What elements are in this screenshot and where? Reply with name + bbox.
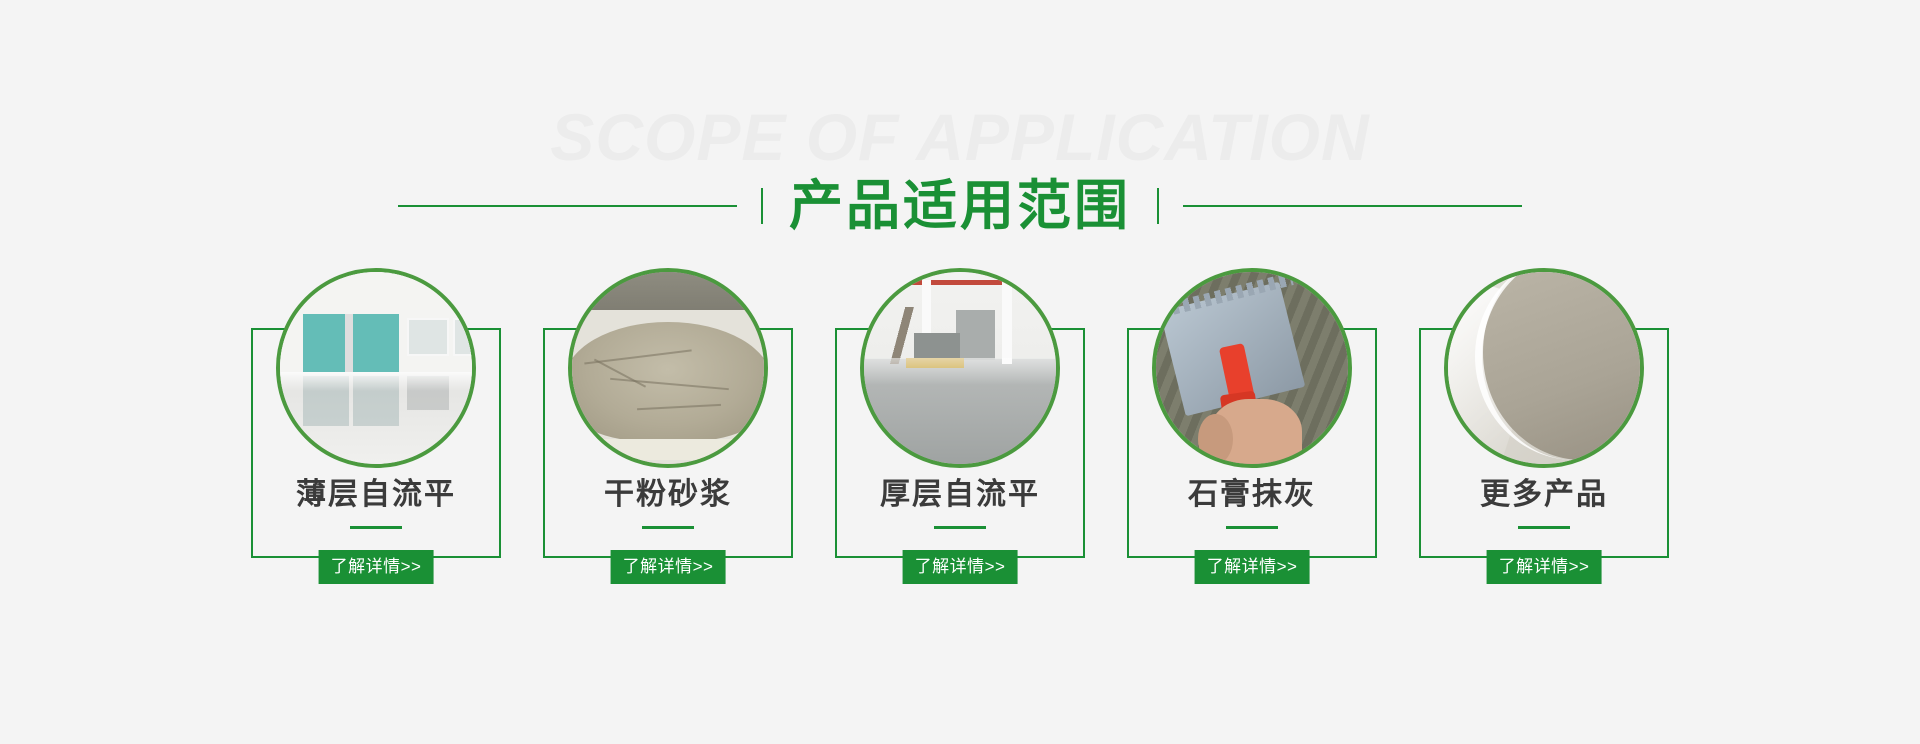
- thick-layer-self-levelling-warehouse-floor-photo: [864, 272, 1056, 464]
- page-title: 产品适用范围: [763, 179, 1157, 233]
- application-card[interactable]: 石膏抹灰 了解详情>>: [1127, 268, 1377, 558]
- dry-powder-mortar-photo: [572, 272, 764, 464]
- application-card-list: 薄层自流平 了解详情>> 干粉砂浆 了解详情>>: [0, 268, 1920, 668]
- card-image-circle: [860, 268, 1060, 468]
- card-label: 石膏抹灰: [1127, 480, 1377, 510]
- learn-more-button[interactable]: 了解详情>>: [1487, 550, 1602, 584]
- card-label-underline: [934, 526, 986, 529]
- learn-more-button[interactable]: 了解详情>>: [1195, 550, 1310, 584]
- rule-line-left: [398, 205, 737, 207]
- gypsum-plastering-trowel-photo: [1156, 272, 1348, 464]
- learn-more-button[interactable]: 了解详情>>: [903, 550, 1018, 584]
- card-image-circle: [568, 268, 768, 468]
- card-label: 厚层自流平: [835, 480, 1085, 510]
- card-image-circle: [1444, 268, 1644, 468]
- card-label-underline: [1518, 526, 1570, 529]
- card-label: 干粉砂浆: [543, 480, 793, 510]
- card-label-underline: [1226, 526, 1278, 529]
- application-card[interactable]: 厚层自流平 了解详情>>: [835, 268, 1085, 558]
- application-card[interactable]: 薄层自流平 了解详情>>: [251, 268, 501, 558]
- card-label-underline: [350, 526, 402, 529]
- card-label: 更多产品: [1419, 480, 1669, 510]
- rule-line-right: [1183, 205, 1522, 207]
- card-image-circle: [1152, 268, 1352, 468]
- decorative-rule-right: [1157, 188, 1522, 224]
- watermark-text: SCOPE OF APPLICATION: [0, 104, 1920, 170]
- decorative-rule-left: [398, 188, 763, 224]
- more-products-polished-surface-photo: [1448, 272, 1640, 464]
- learn-more-button[interactable]: 了解详情>>: [319, 550, 434, 584]
- scope-of-application-section: SCOPE OF APPLICATION 产品适用范围: [0, 0, 1920, 744]
- rule-tick-left: [761, 188, 763, 224]
- application-card[interactable]: 干粉砂浆 了解详情>>: [543, 268, 793, 558]
- application-card[interactable]: 更多产品 了解详情>>: [1419, 268, 1669, 558]
- card-image-circle: [276, 268, 476, 468]
- section-header: SCOPE OF APPLICATION 产品适用范围: [0, 52, 1920, 192]
- card-label-underline: [642, 526, 694, 529]
- rule-tick-right: [1157, 188, 1159, 224]
- thin-layer-self-levelling-cleanroom-photo: [280, 272, 472, 464]
- title-row: 产品适用范围: [0, 170, 1920, 242]
- card-label: 薄层自流平: [251, 480, 501, 510]
- learn-more-button[interactable]: 了解详情>>: [611, 550, 726, 584]
